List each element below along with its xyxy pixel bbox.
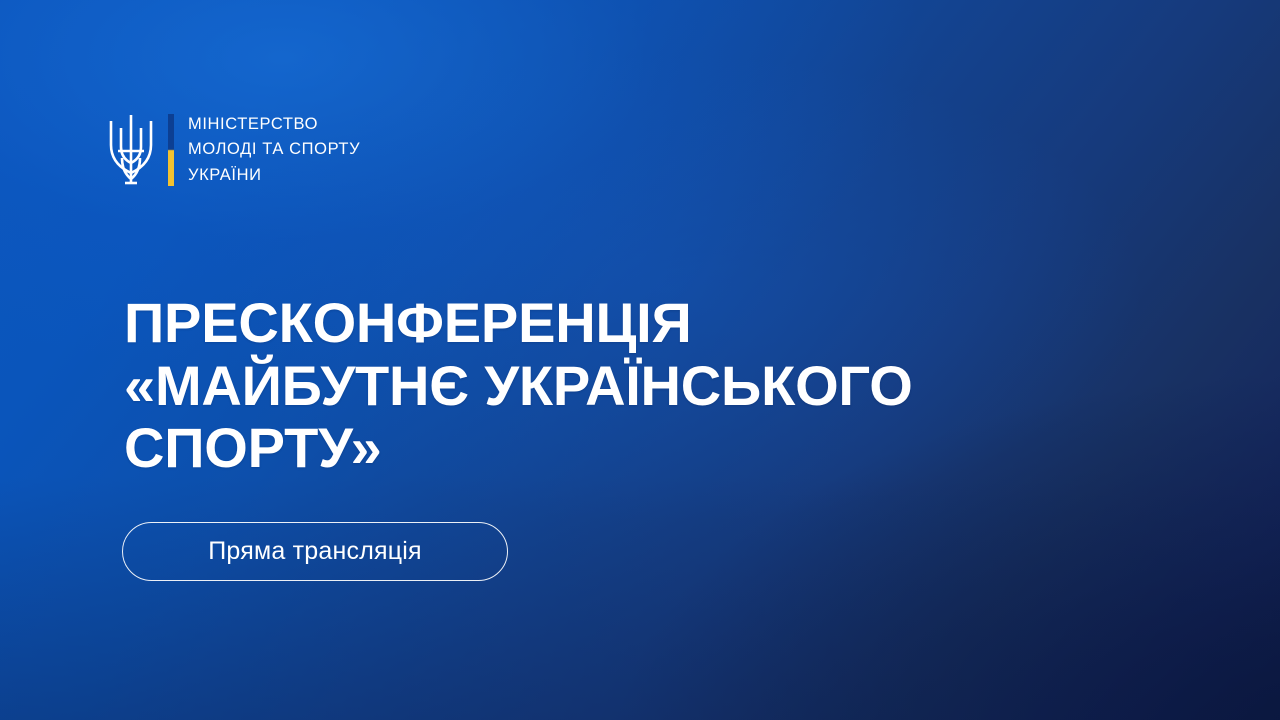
logo-line-3: УКРАЇНИ (188, 164, 360, 187)
presentation-slide: МІНІСТЕРСТВО МОЛОДІ ТА СПОРТУ УКРАЇНИ ПР… (0, 0, 1280, 720)
slide-title-line-3: СПОРТУ» (124, 417, 1174, 480)
logo-flag-divider (168, 114, 174, 186)
slide-title: ПРЕСКОНФЕРЕНЦІЯ «МАЙБУТНЄ УКРАЇНСЬКОГО С… (124, 292, 1174, 480)
logo-line-1: МІНІСТЕРСТВО (188, 113, 360, 136)
live-stream-badge-label: Пряма трансляція (208, 537, 421, 566)
logo-line-2: МОЛОДІ ТА СПОРТУ (188, 138, 360, 161)
logo-wordmark: МІНІСТЕРСТВО МОЛОДІ ТА СПОРТУ УКРАЇНИ (188, 113, 360, 187)
ministry-logo: МІНІСТЕРСТВО МОЛОДІ ТА СПОРТУ УКРАЇНИ (108, 107, 360, 193)
live-stream-badge[interactable]: Пряма трансляція (122, 522, 508, 581)
ukrainian-trident-icon (108, 111, 154, 189)
slide-title-line-1: ПРЕСКОНФЕРЕНЦІЯ (124, 292, 1174, 355)
slide-title-line-2: «МАЙБУТНЄ УКРАЇНСЬКОГО (124, 355, 1174, 418)
